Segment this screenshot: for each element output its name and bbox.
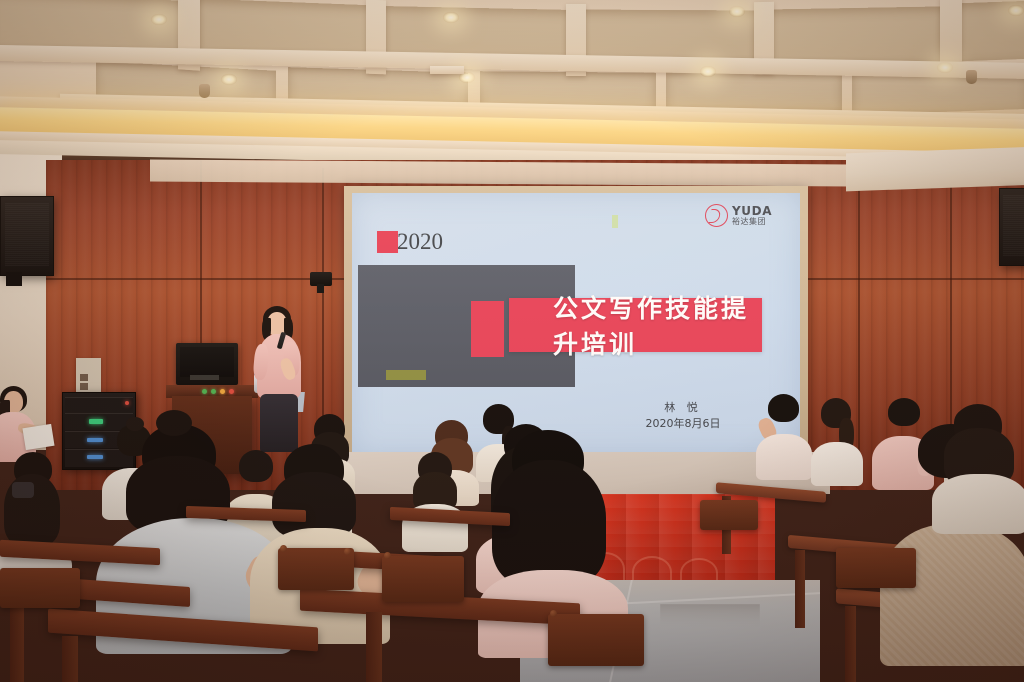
- ceiling-spot-fixture: [966, 70, 977, 84]
- slide-title-accent-square: [471, 301, 504, 357]
- ceiling-downlight: [700, 66, 716, 77]
- audience-member: [812, 398, 862, 486]
- ceiling-spot-fixture: [199, 84, 210, 98]
- logo-english-text: YUDA: [732, 205, 772, 217]
- chair: [700, 500, 758, 530]
- chair: [548, 614, 644, 666]
- av-led-red: [125, 401, 129, 405]
- ceiling-downlight: [151, 14, 167, 25]
- assistant-staff: [0, 386, 50, 462]
- wall-speaker-right: [999, 188, 1024, 266]
- wall-notice-poster: [76, 358, 101, 393]
- audience-member: [758, 394, 810, 480]
- ceiling-downlight: [443, 12, 459, 23]
- ceiling-downlight: [1008, 5, 1024, 16]
- podium-indicator: [220, 389, 225, 394]
- podium-indicator: [211, 389, 216, 394]
- projection-screen: 2020 公文写作技能提升培训 林 悦 2020年8月6日 YUDA 裕达集团: [352, 193, 800, 455]
- slide-presenter-name: 林 悦: [628, 400, 738, 416]
- slide-byline: 林 悦 2020年8月6日: [628, 400, 738, 432]
- ceiling-downlight: [221, 74, 237, 85]
- chair: [278, 548, 354, 590]
- chair: [0, 568, 80, 608]
- ceiling-downlight: [937, 62, 953, 73]
- audience-member: [0, 452, 68, 584]
- slide-year-label: 2020: [397, 229, 443, 255]
- seminar-room-photo: 2020 公文写作技能提升培训 林 悦 2020年8月6日 YUDA 裕达集团: [0, 0, 1024, 682]
- wall-speaker-left: [0, 196, 54, 276]
- floor-text-reflection: [660, 604, 760, 628]
- coffered-ceiling: [0, 0, 1024, 152]
- yuda-logo: YUDA 裕达集团: [705, 204, 772, 227]
- chair: [836, 548, 916, 588]
- logo-chinese-text: 裕达集团: [732, 218, 772, 226]
- slide-title-banner: 公文写作技能提升培训: [509, 298, 762, 352]
- podium-indicator: [202, 389, 207, 394]
- podium-indicator: [229, 389, 234, 394]
- chair: [382, 556, 464, 602]
- slide-green-accent: [612, 215, 618, 228]
- podium-monitor: [176, 343, 238, 385]
- slide-title-text: 公文写作技能提升培训: [509, 289, 762, 361]
- audience-member: [404, 452, 466, 552]
- slide-date: 2020年8月6日: [628, 416, 738, 432]
- audience-member: [932, 404, 1024, 534]
- ceiling-downlight: [729, 6, 745, 17]
- yuda-monogram-icon: [705, 204, 728, 227]
- slide-olive-accent: [386, 370, 426, 380]
- slide-year-square: [377, 231, 398, 253]
